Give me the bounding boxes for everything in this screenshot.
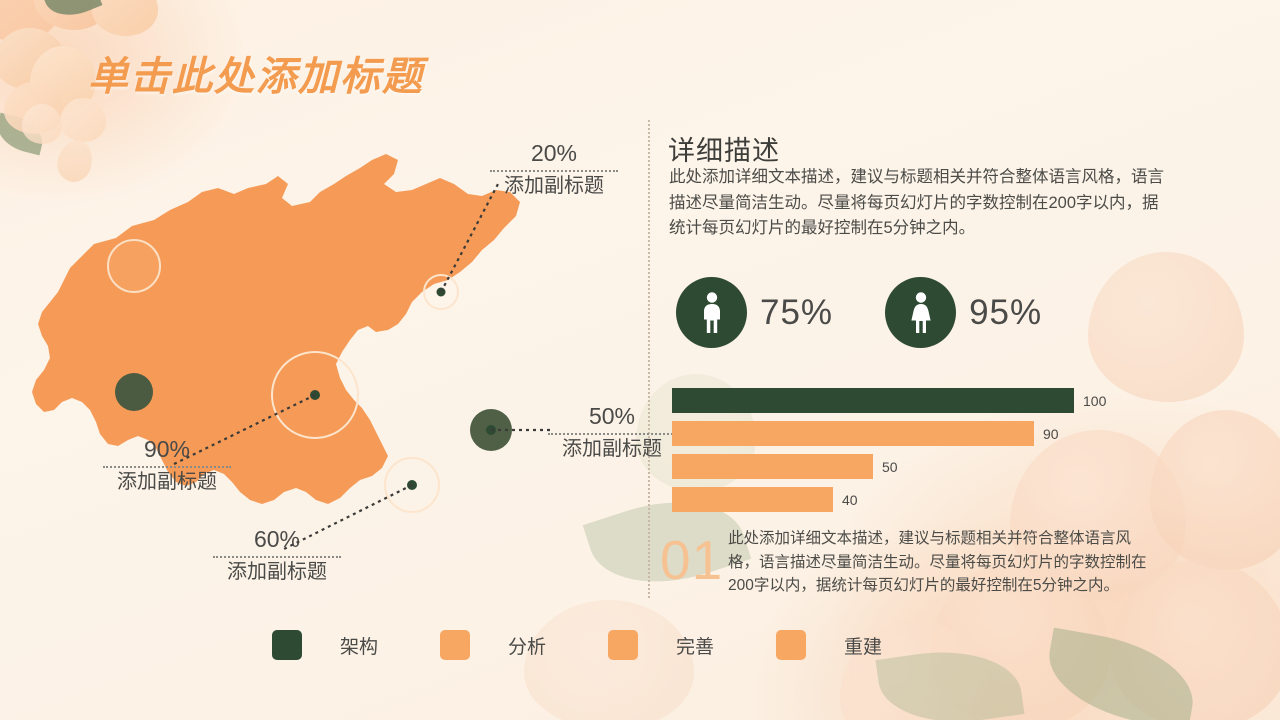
callout-rule: [548, 433, 676, 435]
bottom-description: 此处添加详细文本描述，建议与标题相关并符合整体语言风格，语言描述尽量简洁生动。尽…: [728, 527, 1148, 598]
legend-swatch: [440, 630, 470, 660]
callout-percent: 50%: [548, 404, 676, 431]
rose-shape: [524, 600, 694, 720]
bar-value: 50: [882, 459, 898, 475]
china-map-icon[interactable]: [20, 140, 640, 580]
description-body: 此处添加详细文本描述，建议与标题相关并符合整体语言风格，语言描述尽量简洁生动。尽…: [669, 165, 1169, 242]
slide-canvas: 单击此处添加标题 20%: [0, 0, 1280, 720]
legend-label: 重建: [844, 632, 882, 659]
callout-percent: 20%: [490, 141, 618, 168]
map-callout-90[interactable]: 90% 添加副标题: [103, 437, 231, 494]
bar-row[interactable]: 50: [672, 454, 1142, 479]
column-divider: [648, 120, 650, 598]
china-map-region: 20% 添加副标题 90% 添加副标题 60% 添加副标题 50% 添加副标题: [20, 140, 640, 580]
bar-1: [672, 421, 1034, 446]
bar-row[interactable]: 40: [672, 487, 1142, 512]
petal-shape: [22, 104, 62, 144]
chart-legend: 架构 分析 完善 重建: [272, 630, 882, 660]
petal-shape: [60, 98, 106, 142]
legend-item-0[interactable]: 架构: [272, 630, 378, 660]
callout-subtitle: 添加副标题: [103, 471, 231, 494]
map-ring-northwest: [108, 240, 160, 292]
female-percent: 95%: [969, 293, 1042, 333]
callout-rule: [490, 170, 618, 172]
legend-label: 完善: [676, 632, 714, 659]
callout-subtitle: 添加副标题: [213, 561, 341, 584]
description-heading: 详细描述: [668, 129, 780, 168]
legend-swatch: [272, 630, 302, 660]
legend-label: 分析: [508, 632, 546, 659]
leaf-shape: [876, 641, 1025, 720]
bar-value: 100: [1083, 393, 1106, 409]
map-callout-60[interactable]: 60% 添加副标题: [213, 527, 341, 584]
bar-2: [672, 454, 873, 479]
callout-subtitle: 添加副标题: [490, 175, 618, 198]
legend-swatch: [608, 630, 638, 660]
section-number: 01: [660, 528, 723, 592]
gender-stat-female[interactable]: 95%: [885, 277, 1042, 348]
petal-shape: [30, 46, 96, 112]
callout-subtitle: 添加副标题: [548, 438, 676, 461]
legend-swatch: [776, 630, 806, 660]
bar-3: [672, 487, 833, 512]
male-circle: [676, 277, 747, 348]
callout-rule: [103, 466, 231, 468]
bar-row[interactable]: 90: [672, 421, 1142, 446]
rose-shape: [1088, 252, 1244, 402]
male-icon: [697, 291, 727, 335]
callout-percent: 60%: [213, 527, 341, 554]
male-percent: 75%: [760, 293, 833, 333]
petal-shape: [0, 28, 66, 90]
page-title: 单击此处添加标题: [88, 44, 424, 102]
bar-value: 40: [842, 492, 858, 508]
callout-percent: 90%: [103, 437, 231, 464]
map-callout-20[interactable]: 20% 添加副标题: [490, 141, 618, 198]
female-icon: [906, 291, 936, 335]
female-circle: [885, 277, 956, 348]
petal-shape: [92, 0, 158, 36]
map-dot-west[interactable]: [115, 373, 153, 411]
legend-item-2[interactable]: 完善: [608, 630, 714, 660]
bar-row[interactable]: 100: [672, 388, 1142, 413]
bar-value: 90: [1043, 426, 1059, 442]
rose-shape: [1150, 410, 1280, 570]
horizontal-bar-chart: 100 90 50 40: [672, 388, 1142, 520]
gender-stat-male[interactable]: 75%: [676, 277, 833, 348]
legend-label: 架构: [340, 632, 378, 659]
legend-item-3[interactable]: 重建: [776, 630, 882, 660]
leaf-shape: [1040, 628, 1201, 720]
petal-shape: [34, 0, 112, 30]
petal-shape: [4, 82, 64, 134]
gender-stats: 75% 95%: [676, 277, 1074, 348]
leaf-shape: [42, 0, 103, 25]
map-callout-50[interactable]: 50% 添加副标题: [548, 404, 676, 461]
callout-rule: [213, 556, 341, 558]
petal-shape: [0, 0, 60, 42]
legend-item-1[interactable]: 分析: [440, 630, 546, 660]
bar-0: [672, 388, 1074, 413]
